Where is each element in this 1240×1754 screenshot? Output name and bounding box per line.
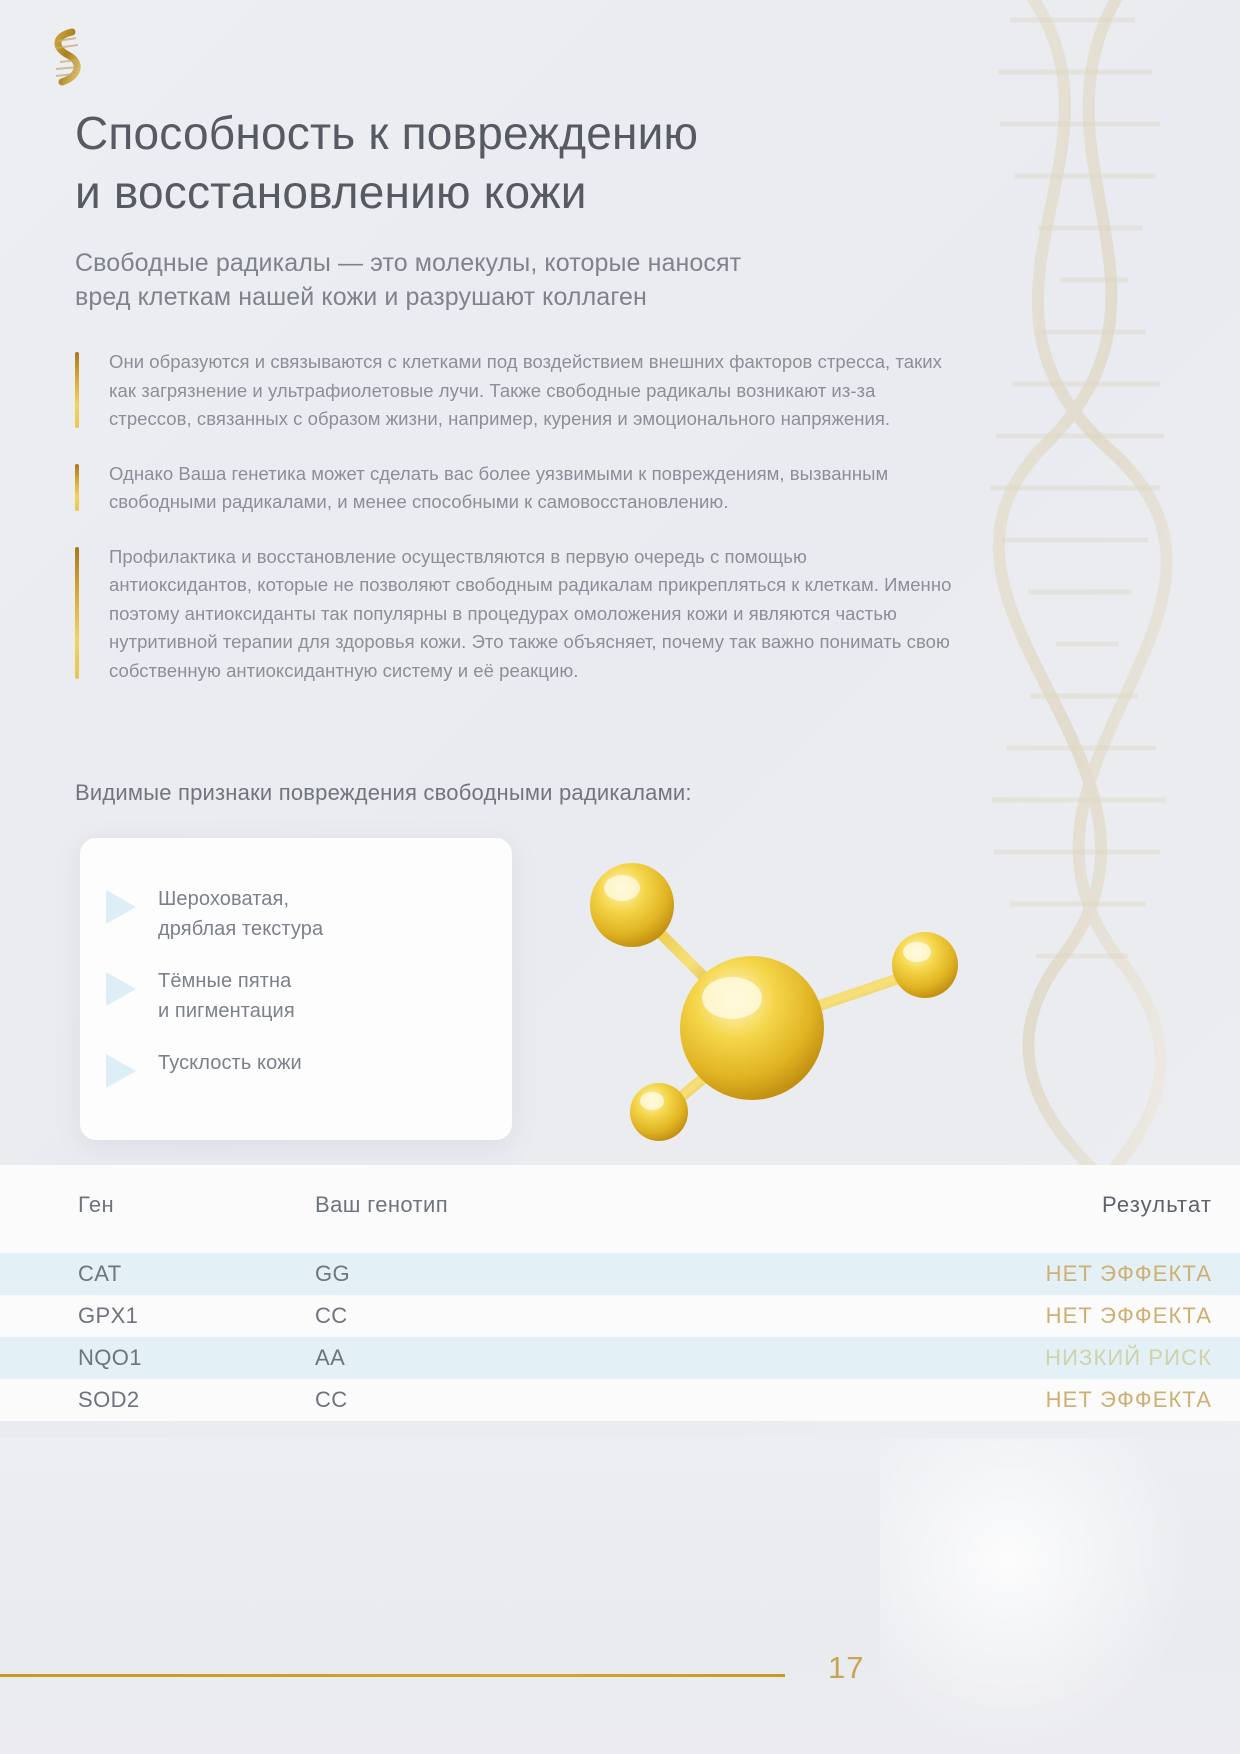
cell-genotype: CC (315, 1303, 715, 1329)
cell-genotype: AA (315, 1345, 715, 1371)
visible-signs-list: Шероховатая, дряблая текстура Тёмные пят… (80, 838, 512, 1088)
cell-gene: GPX1 (0, 1303, 315, 1329)
list-item-label: Тусклость кожи (158, 1048, 302, 1078)
gold-accent-bar-icon (75, 547, 79, 680)
paragraph-text: Они образуются и связываются с клетками … (109, 348, 955, 434)
table-row: GPX1 CC НЕТ ЭФФЕКТА (0, 1295, 1240, 1337)
cell-result: НЕТ ЭФФЕКТА (715, 1303, 1240, 1329)
list-item-line-2: и пигментация (158, 1000, 295, 1022)
list-item-line-1: Шероховатая, (158, 888, 289, 910)
page-title-line-1: Способность к повреждению (75, 104, 955, 163)
paragraph-text: Профилактика и восстановление осуществля… (109, 543, 955, 686)
cell-genotype: GG (315, 1261, 715, 1287)
triangle-bullet-icon (106, 1054, 136, 1088)
list-item: Тусклость кожи (106, 1048, 512, 1088)
list-item: Тёмные пятна и пигментация (106, 966, 512, 1026)
footer-decoration (880, 1438, 1200, 1754)
gold-molecule-illustration (560, 830, 1030, 1160)
paragraph-block: Они образуются и связываются с клетками … (75, 348, 955, 434)
table-divider (0, 1245, 1240, 1253)
gold-accent-bar-icon (75, 352, 79, 428)
cell-result: НЕТ ЭФФЕКТА (715, 1261, 1240, 1287)
table-row: CAT GG НЕТ ЭФФЕКТА (0, 1253, 1240, 1295)
list-item-line-2: дряблая текстура (158, 918, 323, 940)
gene-results-table: Ген Ваш генотип Результат CAT GG НЕТ ЭФФ… (0, 1165, 1240, 1421)
gold-accent-bar-icon (75, 464, 79, 511)
cell-genotype: CC (315, 1387, 715, 1413)
table-row: SOD2 CC НЕТ ЭФФЕКТА (0, 1379, 1240, 1421)
paragraph-list: Они образуются и связываются с клетками … (75, 348, 955, 711)
triangle-bullet-icon (106, 890, 136, 924)
table-header-row: Ген Ваш генотип Результат (0, 1165, 1240, 1245)
dna-helix-icon (34, 22, 96, 94)
paragraph-block: Профилактика и восстановление осуществля… (75, 543, 955, 686)
footer-background (0, 1438, 1240, 1754)
visible-signs-card: Шероховатая, дряблая текстура Тёмные пят… (80, 838, 512, 1140)
list-item-line-1: Тёмные пятна (158, 970, 291, 992)
page-title: Способность к повреждению и восстановлен… (75, 104, 955, 222)
cell-result: НИЗКИЙ РИСК (715, 1345, 1240, 1371)
column-header-gene: Ген (0, 1192, 315, 1218)
list-item-line-1: Тусклость кожи (158, 1052, 302, 1074)
cell-gene: CAT (0, 1261, 315, 1287)
report-page: Способность к повреждению и восстановлен… (0, 0, 1240, 1754)
page-subtitle-line-1: Свободные радикалы — это молекулы, котор… (75, 246, 945, 280)
visible-signs-heading: Видимые признаки повреждения свободными … (75, 780, 975, 806)
page-title-line-2: и восстановлению кожи (75, 163, 955, 222)
column-header-genotype: Ваш генотип (315, 1192, 715, 1218)
cell-result: НЕТ ЭФФЕКТА (715, 1387, 1240, 1413)
triangle-bullet-icon (106, 972, 136, 1006)
cell-gene: SOD2 (0, 1387, 315, 1413)
paragraph-text: Однако Ваша генетика может сделать вас б… (109, 460, 955, 517)
cell-gene: NQO1 (0, 1345, 315, 1371)
list-item-label: Тёмные пятна и пигментация (158, 966, 295, 1026)
page-subtitle-line-2: вред клеткам нашей кожи и разрушают колл… (75, 280, 945, 314)
column-header-result: Результат (715, 1192, 1240, 1218)
table-row: NQO1 AA НИЗКИЙ РИСК (0, 1337, 1240, 1379)
page-subtitle: Свободные радикалы — это молекулы, котор… (75, 246, 945, 314)
page-number: 17 (828, 1650, 864, 1686)
paragraph-block: Однако Ваша генетика может сделать вас б… (75, 460, 955, 517)
list-item: Шероховатая, дряблая текстура (106, 884, 512, 944)
footer-gold-rule (0, 1674, 785, 1677)
list-item-label: Шероховатая, дряблая текстура (158, 884, 323, 944)
